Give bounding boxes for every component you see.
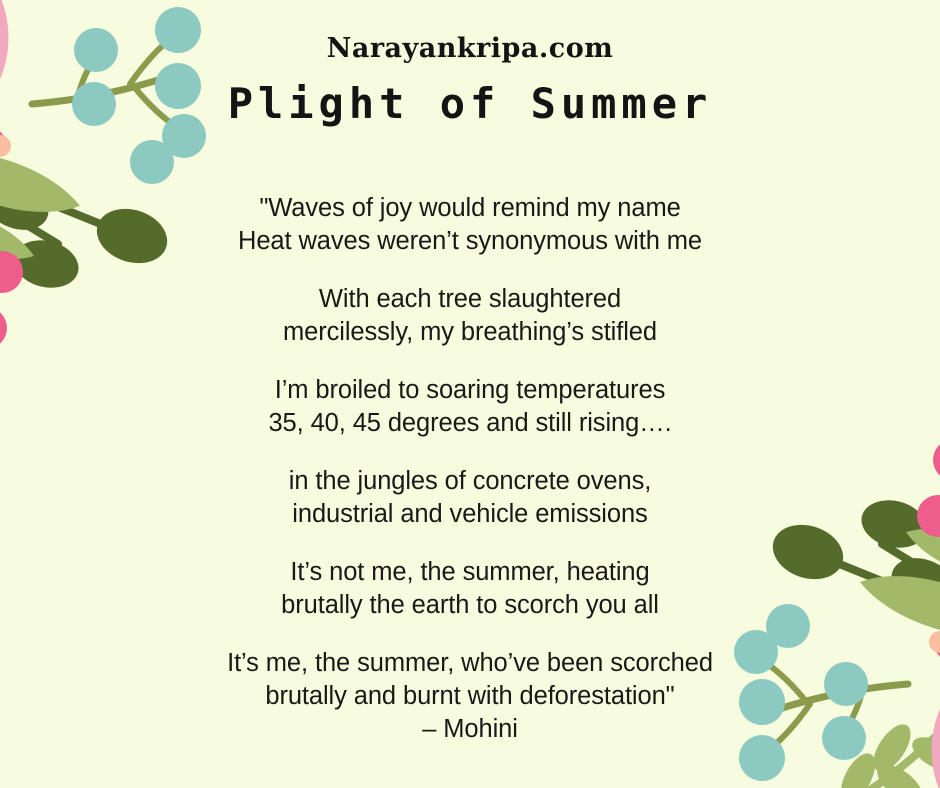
poem-stanza: It’s me, the summer, who’ve been scorche… — [0, 647, 940, 746]
poem-line: Heat waves weren’t synonymous with me — [0, 225, 940, 258]
poem-line: With each tree slaughtered — [0, 283, 940, 316]
poem-line: It’s not me, the summer, heating — [0, 556, 940, 589]
poem-stanza: It’s not me, the summer, heating brutall… — [0, 556, 940, 622]
poem-stanza: "Waves of joy would remind my name Heat … — [0, 192, 940, 258]
poem-poster: Narayankripa.com Plight of Summer "Waves… — [0, 0, 940, 788]
poem-stanza: I’m broiled to soaring temperatures 35, … — [0, 374, 940, 440]
poem-line: "Waves of joy would remind my name — [0, 192, 940, 225]
poem-line: 35, 40, 45 degrees and still rising…. — [0, 407, 940, 440]
poem-stanza: in the jungles of concrete ovens, indust… — [0, 465, 940, 531]
poem-line: industrial and vehicle emissions — [0, 498, 940, 531]
poem-attribution: – Mohini — [0, 713, 940, 746]
poem-line: brutally and burnt with deforestation" — [0, 680, 940, 713]
site-name: Narayankripa.com — [327, 33, 614, 64]
poem-line: I’m broiled to soaring temperatures — [0, 374, 940, 407]
page-title: Plight of Summer — [228, 79, 713, 128]
poem-line: mercilessly, my breathing’s stifled — [0, 316, 940, 349]
poem-line: brutally the earth to scorch you all — [0, 589, 940, 622]
poster-content: Narayankripa.com Plight of Summer "Waves… — [0, 0, 940, 788]
poem-stanza: With each tree slaughtered mercilessly, … — [0, 283, 940, 349]
poem-line: It’s me, the summer, who’ve been scorche… — [0, 647, 940, 680]
poem-line: in the jungles of concrete ovens, — [0, 465, 940, 498]
poem-body: "Waves of joy would remind my name Heat … — [0, 192, 940, 746]
